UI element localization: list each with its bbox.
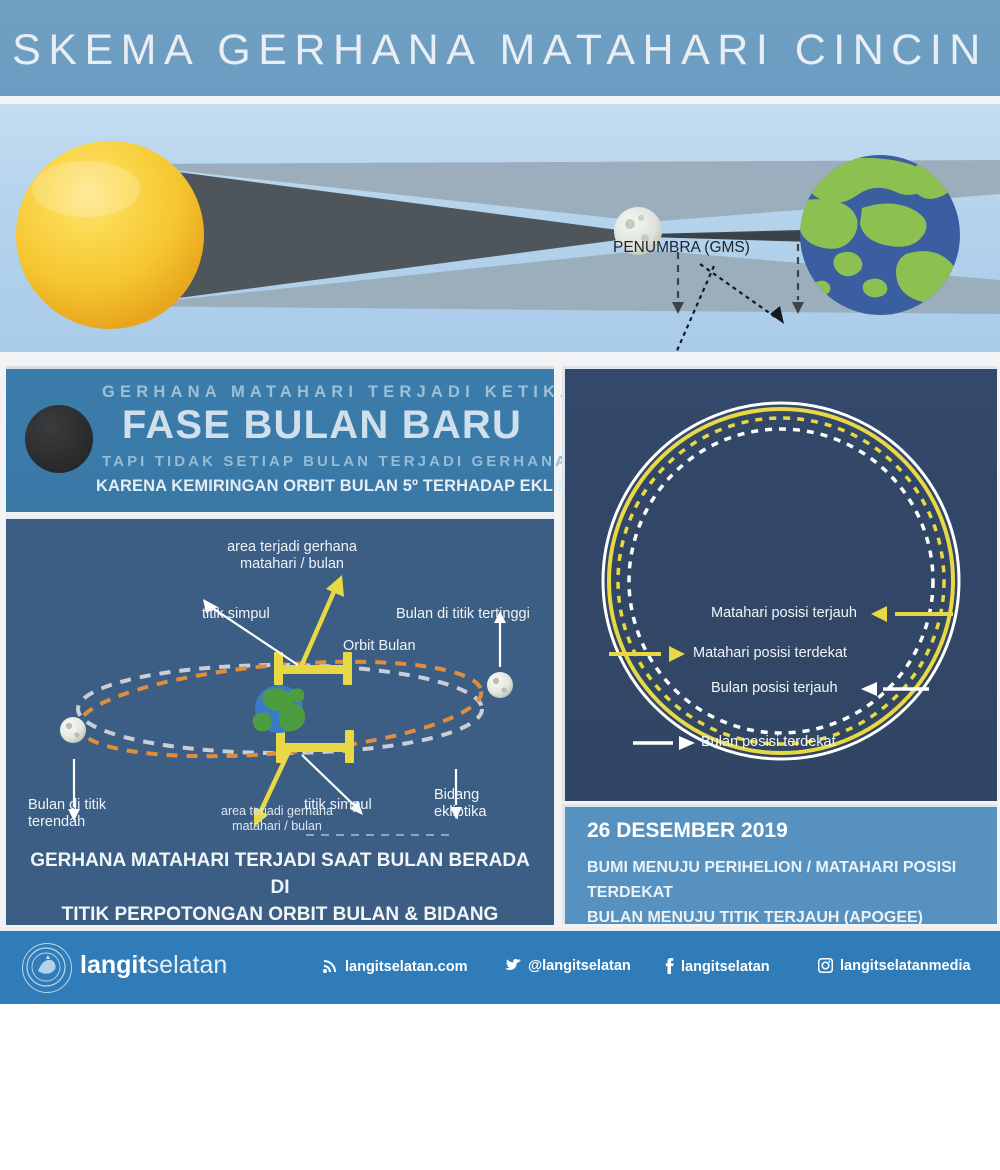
label-moon-near: Bulan posisi terdekat	[701, 734, 836, 750]
moon-orbit-panel: area terjadi gerhana matahari / bulan ti…	[6, 515, 554, 925]
event-date: 26 DESEMBER 2019	[587, 819, 788, 843]
page-title: SKEMA GERHANA MATAHARI CINCIN	[0, 26, 1000, 75]
label-moon-far: Bulan posisi terjauh	[711, 680, 838, 696]
label-penumbra: PENUMBRA (GMS)	[613, 239, 750, 257]
infographic-page: SKEMA GERHANA MATAHARI CINCIN	[0, 0, 1000, 1000]
label-sun-near: Matahari posisi terdekat	[693, 645, 847, 661]
rss-icon	[322, 958, 338, 978]
footer-link-website[interactable]: langitselatan.com	[322, 958, 467, 978]
footer-bar: langitselatan langitselatan.com @langits…	[0, 927, 1000, 1004]
moon-highest-point	[487, 672, 513, 698]
facebook-icon	[664, 958, 674, 978]
label-node-top: titik simpul	[202, 606, 270, 623]
ring-white-solid-outer	[603, 403, 959, 759]
date-panel: 26 DESEMBER 2019 BUMI MENUJU PERIHELION …	[562, 804, 997, 924]
footer-link-facebook[interactable]: langitselatan	[664, 958, 770, 978]
phase-line-4: KARENA KEMIRINGAN ORBIT BULAN 5º TERHADA…	[96, 477, 548, 496]
instagram-icon	[818, 958, 833, 977]
phase-line-1: GERHANA MATAHARI TERJADI KETIKA	[102, 383, 542, 402]
eclipse-schema-panel: PENUMBRA (GMS) UMBRA (GMT) ANTUMBRA (GMC…	[0, 104, 1000, 352]
phase-headline: FASE BULAN BARU	[102, 403, 542, 448]
label-moon-highest: Bulan di titik tertinggi	[396, 606, 530, 623]
label-eclipse-area-top: area terjadi gerhana matahari / bulan	[192, 539, 392, 573]
apparent-size-panel: Variasi ukuran kenampakan piringan Matah…	[562, 366, 997, 801]
label-moon-lowest: Bulan di titik terendah	[28, 797, 106, 831]
label-ecliptic-plane: Bidang ekliptika	[434, 787, 486, 821]
label-orbit-bulan: Orbit Bulan	[343, 638, 416, 655]
twitter-icon	[504, 958, 521, 977]
footer-link-twitter[interactable]: @langitselatan	[504, 958, 631, 977]
ring-sun-far	[609, 409, 953, 753]
label-node-bottom: titik simpul	[304, 797, 372, 814]
new-moon-phase-panel: GERHANA MATAHARI TERJADI KETIKA FASE BUL…	[6, 366, 554, 512]
event-note: BUMI MENUJU PERIHELION / MATAHARI POSISI…	[587, 855, 997, 930]
brand-wordmark: langitselatan	[80, 951, 227, 980]
langitselatan-seal-logo	[22, 943, 72, 993]
footer-link-instagram[interactable]: langitselatanmedia	[818, 958, 971, 977]
schema-diagram	[0, 104, 1000, 352]
new-moon-icon	[25, 405, 93, 473]
phase-line-3: TAPI TIDAK SETIAP BULAN TERJADI GERHANA	[102, 453, 542, 470]
moon-lowest-point	[60, 717, 86, 743]
header-banner: SKEMA GERHANA MATAHARI CINCIN	[0, 0, 1000, 96]
label-sun-far: Matahari posisi terjauh	[711, 605, 857, 621]
